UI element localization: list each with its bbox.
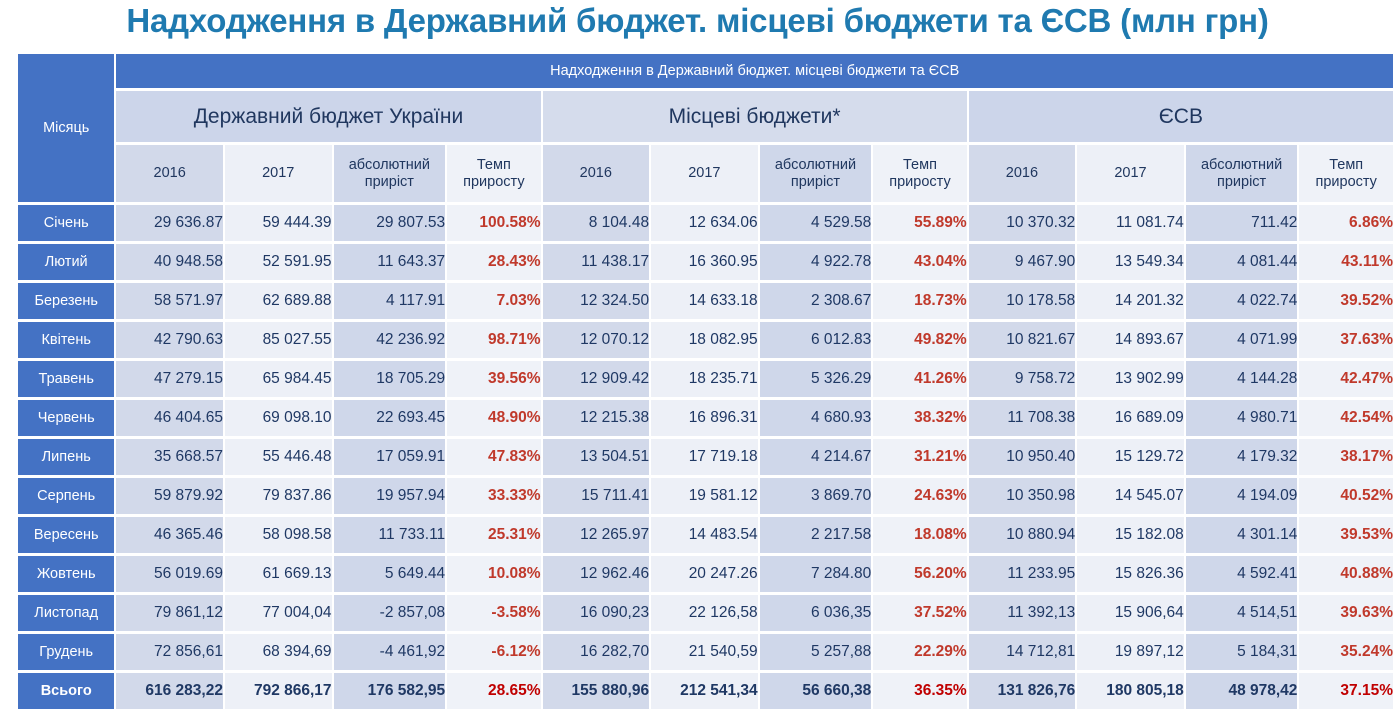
amount-cell: 711.42 [1186, 205, 1298, 241]
subheader-abs-line2: приріст [791, 174, 840, 190]
subheader-row: 2016 2017 абсолютний приріст Темп прирос… [18, 145, 1393, 202]
amount-cell: 12 909.42 [543, 361, 650, 397]
subheader-esv-abs: абсолютний приріст [1186, 145, 1298, 202]
amount-cell: 56 019.69 [116, 556, 223, 592]
amount-cell: 11 708.38 [969, 400, 1076, 436]
month-label: Липень [18, 439, 114, 475]
amount-cell: -4 461,92 [334, 634, 446, 670]
amount-cell: 4 922.78 [760, 244, 872, 280]
amount-cell: 42 790.63 [116, 322, 223, 358]
month-label: Травень [18, 361, 114, 397]
amount-cell: 4 529.58 [760, 205, 872, 241]
amount-cell: 3 869.70 [760, 478, 872, 514]
amount-cell: 11 733.11 [334, 517, 446, 553]
table-row: Березень58 571.9762 689.884 117.917.03%1… [18, 283, 1393, 319]
amount-cell: 16 090,23 [543, 595, 650, 631]
amount-cell: 4 214.67 [760, 439, 872, 475]
amount-cell: 18 235.71 [651, 361, 758, 397]
amount-cell: 10 370.32 [969, 205, 1076, 241]
amount-cell: 14 633.18 [651, 283, 758, 319]
month-label: Жовтень [18, 556, 114, 592]
growth-rate-cell: 39.63% [1299, 595, 1393, 631]
growth-rate-cell: -3.58% [447, 595, 540, 631]
amount-cell: 4 980.71 [1186, 400, 1298, 436]
amount-cell: 4 680.93 [760, 400, 872, 436]
amount-cell: 20 247.26 [651, 556, 758, 592]
amount-cell: 14 483.54 [651, 517, 758, 553]
growth-rate-cell: 7.03% [447, 283, 540, 319]
amount-cell: 15 906,64 [1077, 595, 1184, 631]
table-row: Серпень59 879.9279 837.8619 957.9433.33%… [18, 478, 1393, 514]
amount-cell: 58 571.97 [116, 283, 223, 319]
amount-cell: 55 446.48 [225, 439, 332, 475]
growth-rate-cell: 100.58% [447, 205, 540, 241]
amount-cell: 46 404.65 [116, 400, 223, 436]
amount-cell: 9 758.72 [969, 361, 1076, 397]
growth-rate-cell: 43.04% [873, 244, 966, 280]
amount-cell: 13 902.99 [1077, 361, 1184, 397]
table-row: Лютий40 948.5852 591.9511 643.3728.43%11… [18, 244, 1393, 280]
growth-rate-cell: 38.17% [1299, 439, 1393, 475]
amount-cell: 19 957.94 [334, 478, 446, 514]
amount-cell: 12 070.12 [543, 322, 650, 358]
amount-cell: 40 948.58 [116, 244, 223, 280]
amount-cell: 19 581.12 [651, 478, 758, 514]
amount-cell: 47 279.15 [116, 361, 223, 397]
subheader-local-2016: 2016 [543, 145, 650, 202]
amount-cell: 35 668.57 [116, 439, 223, 475]
amount-cell: 5 184,31 [1186, 634, 1298, 670]
table-total-row: Всього616 283,22792 866,17176 582,9528.6… [18, 673, 1393, 709]
subheader-state-rate: Темп приросту [447, 145, 540, 202]
growth-rate-cell: 42.54% [1299, 400, 1393, 436]
budget-table: Місяць Надходження в Державний бюджет. м… [16, 51, 1395, 712]
amount-cell: 4 144.28 [1186, 361, 1298, 397]
amount-cell: 13 549.34 [1077, 244, 1184, 280]
growth-rate-cell: 98.71% [447, 322, 540, 358]
growth-rate-cell: 43.11% [1299, 244, 1393, 280]
amount-cell: 6 036,35 [760, 595, 872, 631]
growth-rate-cell: 37.15% [1299, 673, 1393, 709]
growth-rate-cell: 22.29% [873, 634, 966, 670]
amount-cell: 22 693.45 [334, 400, 446, 436]
month-label: Грудень [18, 634, 114, 670]
subheader-local-abs: абсолютний приріст [760, 145, 872, 202]
amount-cell: 85 027.55 [225, 322, 332, 358]
budget-table-container: Місяць Надходження в Державний бюджет. м… [0, 44, 1395, 712]
amount-cell: 52 591.95 [225, 244, 332, 280]
amount-cell: 176 582,95 [334, 673, 446, 709]
growth-rate-cell: 31.21% [873, 439, 966, 475]
growth-rate-cell: 18.08% [873, 517, 966, 553]
amount-cell: -2 857,08 [334, 595, 446, 631]
amount-cell: 12 962.46 [543, 556, 650, 592]
month-label: Листопад [18, 595, 114, 631]
table-band-title: Надходження в Державний бюджет. місцеві … [116, 54, 1393, 88]
amount-cell: 56 660,38 [760, 673, 872, 709]
amount-cell: 13 504.51 [543, 439, 650, 475]
month-label: Всього [18, 673, 114, 709]
subheader-local-2017: 2017 [651, 145, 758, 202]
subheader-abs-line2: приріст [1217, 174, 1266, 190]
amount-cell: 14 893.67 [1077, 322, 1184, 358]
amount-cell: 12 215.38 [543, 400, 650, 436]
table-row: Листопад79 861,1277 004,04-2 857,08-3.58… [18, 595, 1393, 631]
amount-cell: 9 467.90 [969, 244, 1076, 280]
growth-rate-cell: 25.31% [447, 517, 540, 553]
month-label: Лютий [18, 244, 114, 280]
subheader-rate-line2: приросту [463, 174, 524, 190]
growth-rate-cell: 6.86% [1299, 205, 1393, 241]
amount-cell: 16 360.95 [651, 244, 758, 280]
growth-rate-cell: 37.63% [1299, 322, 1393, 358]
month-label: Січень [18, 205, 114, 241]
subheader-rate-line1: Темп [903, 157, 937, 173]
amount-cell: 7 284.80 [760, 556, 872, 592]
amount-cell: 48 978,42 [1186, 673, 1298, 709]
amount-cell: 5 326.29 [760, 361, 872, 397]
month-label: Червень [18, 400, 114, 436]
amount-cell: 5 649.44 [334, 556, 446, 592]
amount-cell: 155 880,96 [543, 673, 650, 709]
subheader-esv-rate: Темп приросту [1299, 145, 1393, 202]
amount-cell: 6 012.83 [760, 322, 872, 358]
amount-cell: 17 059.91 [334, 439, 446, 475]
amount-cell: 11 233.95 [969, 556, 1076, 592]
growth-rate-cell: 35.24% [1299, 634, 1393, 670]
table-row: Квітень42 790.6385 027.5542 236.9298.71%… [18, 322, 1393, 358]
growth-rate-cell: 33.33% [447, 478, 540, 514]
growth-rate-cell: 42.47% [1299, 361, 1393, 397]
amount-cell: 16 689.09 [1077, 400, 1184, 436]
amount-cell: 12 634.06 [651, 205, 758, 241]
growth-rate-cell: 48.90% [447, 400, 540, 436]
amount-cell: 18 082.95 [651, 322, 758, 358]
amount-cell: 4 194.09 [1186, 478, 1298, 514]
amount-cell: 792 866,17 [225, 673, 332, 709]
amount-cell: 14 201.32 [1077, 283, 1184, 319]
growth-rate-cell: 37.52% [873, 595, 966, 631]
subheader-abs-line2: приріст [365, 174, 414, 190]
amount-cell: 29 636.87 [116, 205, 223, 241]
amount-cell: 4 592.41 [1186, 556, 1298, 592]
amount-cell: 4 514,51 [1186, 595, 1298, 631]
growth-rate-cell: 39.52% [1299, 283, 1393, 319]
amount-cell: 69 098.10 [225, 400, 332, 436]
table-row: Жовтень56 019.6961 669.135 649.4410.08%1… [18, 556, 1393, 592]
table-row: Липень35 668.5755 446.4817 059.9147.83%1… [18, 439, 1393, 475]
subheader-abs-line1: абсолютний [349, 157, 430, 173]
amount-cell: 17 719.18 [651, 439, 758, 475]
growth-rate-cell: 18.73% [873, 283, 966, 319]
amount-cell: 8 104.48 [543, 205, 650, 241]
amount-cell: 180 805,18 [1077, 673, 1184, 709]
amount-cell: 21 540,59 [651, 634, 758, 670]
amount-cell: 12 324.50 [543, 283, 650, 319]
amount-cell: 72 856,61 [116, 634, 223, 670]
growth-rate-cell: 10.08% [447, 556, 540, 592]
amount-cell: 10 178.58 [969, 283, 1076, 319]
growth-rate-cell: 24.63% [873, 478, 966, 514]
table-row: Вересень46 365.4658 098.5811 733.1125.31… [18, 517, 1393, 553]
amount-cell: 58 098.58 [225, 517, 332, 553]
subheader-abs-line1: абсолютний [775, 157, 856, 173]
month-column-header: Місяць [18, 54, 114, 202]
subheader-esv-2016: 2016 [969, 145, 1076, 202]
amount-cell: 2 308.67 [760, 283, 872, 319]
amount-cell: 4 081.44 [1186, 244, 1298, 280]
amount-cell: 12 265.97 [543, 517, 650, 553]
amount-cell: 10 950.40 [969, 439, 1076, 475]
amount-cell: 212 541,34 [651, 673, 758, 709]
amount-cell: 4 022.74 [1186, 283, 1298, 319]
subheader-esv-2017: 2017 [1077, 145, 1184, 202]
subheader-rate-line1: Темп [1329, 157, 1363, 173]
amount-cell: 2 217.58 [760, 517, 872, 553]
group-header-state-budget: Державний бюджет України [116, 91, 540, 142]
amount-cell: 11 643.37 [334, 244, 446, 280]
amount-cell: 4 301.14 [1186, 517, 1298, 553]
header-band-row: Місяць Надходження в Державний бюджет. м… [18, 54, 1393, 88]
growth-rate-cell: 47.83% [447, 439, 540, 475]
amount-cell: 4 117.91 [334, 283, 446, 319]
amount-cell: 19 897,12 [1077, 634, 1184, 670]
amount-cell: 5 257,88 [760, 634, 872, 670]
table-row: Травень47 279.1565 984.4518 705.2939.56%… [18, 361, 1393, 397]
month-label: Березень [18, 283, 114, 319]
growth-rate-cell: 28.65% [447, 673, 540, 709]
growth-rate-cell: 40.88% [1299, 556, 1393, 592]
group-header-row: Державний бюджет України Місцеві бюджети… [18, 91, 1393, 142]
subheader-abs-line1: абсолютний [1201, 157, 1282, 173]
amount-cell: 42 236.92 [334, 322, 446, 358]
growth-rate-cell: 49.82% [873, 322, 966, 358]
table-row: Грудень72 856,6168 394,69-4 461,92-6.12%… [18, 634, 1393, 670]
amount-cell: 10 880.94 [969, 517, 1076, 553]
amount-cell: 62 689.88 [225, 283, 332, 319]
subheader-state-abs: абсолютний приріст [334, 145, 446, 202]
amount-cell: 11 392,13 [969, 595, 1076, 631]
amount-cell: 68 394,69 [225, 634, 332, 670]
amount-cell: 11 438.17 [543, 244, 650, 280]
amount-cell: 10 350.98 [969, 478, 1076, 514]
growth-rate-cell: 40.52% [1299, 478, 1393, 514]
growth-rate-cell: 36.35% [873, 673, 966, 709]
amount-cell: 14 545.07 [1077, 478, 1184, 514]
growth-rate-cell: 55.89% [873, 205, 966, 241]
amount-cell: 65 984.45 [225, 361, 332, 397]
growth-rate-cell: -6.12% [447, 634, 540, 670]
amount-cell: 16 896.31 [651, 400, 758, 436]
growth-rate-cell: 56.20% [873, 556, 966, 592]
subheader-rate-line2: приросту [1315, 174, 1376, 190]
month-label: Квітень [18, 322, 114, 358]
amount-cell: 4 071.99 [1186, 322, 1298, 358]
subheader-rate-line1: Темп [477, 157, 511, 173]
amount-cell: 46 365.46 [116, 517, 223, 553]
growth-rate-cell: 41.26% [873, 361, 966, 397]
table-row: Червень46 404.6569 098.1022 693.4548.90%… [18, 400, 1393, 436]
table-row: Січень29 636.8759 444.3929 807.53100.58%… [18, 205, 1393, 241]
amount-cell: 79 837.86 [225, 478, 332, 514]
growth-rate-cell: 38.32% [873, 400, 966, 436]
amount-cell: 10 821.67 [969, 322, 1076, 358]
month-label: Вересень [18, 517, 114, 553]
amount-cell: 11 081.74 [1077, 205, 1184, 241]
amount-cell: 18 705.29 [334, 361, 446, 397]
amount-cell: 59 879.92 [116, 478, 223, 514]
page-title: Надходження в Державний бюджет. місцеві … [0, 0, 1395, 44]
amount-cell: 16 282,70 [543, 634, 650, 670]
amount-cell: 15 826.36 [1077, 556, 1184, 592]
group-header-local-budgets: Місцеві бюджети* [543, 91, 967, 142]
amount-cell: 77 004,04 [225, 595, 332, 631]
amount-cell: 14 712,81 [969, 634, 1076, 670]
amount-cell: 15 129.72 [1077, 439, 1184, 475]
amount-cell: 61 669.13 [225, 556, 332, 592]
subheader-rate-line2: приросту [889, 174, 950, 190]
growth-rate-cell: 28.43% [447, 244, 540, 280]
amount-cell: 131 826,76 [969, 673, 1076, 709]
amount-cell: 29 807.53 [334, 205, 446, 241]
subheader-state-2016: 2016 [116, 145, 223, 202]
amount-cell: 15 182.08 [1077, 517, 1184, 553]
amount-cell: 15 711.41 [543, 478, 650, 514]
group-header-esv: ЄСВ [969, 91, 1393, 142]
amount-cell: 59 444.39 [225, 205, 332, 241]
growth-rate-cell: 39.56% [447, 361, 540, 397]
amount-cell: 22 126,58 [651, 595, 758, 631]
month-label: Серпень [18, 478, 114, 514]
amount-cell: 616 283,22 [116, 673, 223, 709]
subheader-state-2017: 2017 [225, 145, 332, 202]
amount-cell: 4 179.32 [1186, 439, 1298, 475]
growth-rate-cell: 39.53% [1299, 517, 1393, 553]
subheader-local-rate: Темп приросту [873, 145, 966, 202]
table-body: Січень29 636.8759 444.3929 807.53100.58%… [18, 205, 1393, 709]
amount-cell: 79 861,12 [116, 595, 223, 631]
table-header: Місяць Надходження в Державний бюджет. м… [18, 54, 1393, 202]
